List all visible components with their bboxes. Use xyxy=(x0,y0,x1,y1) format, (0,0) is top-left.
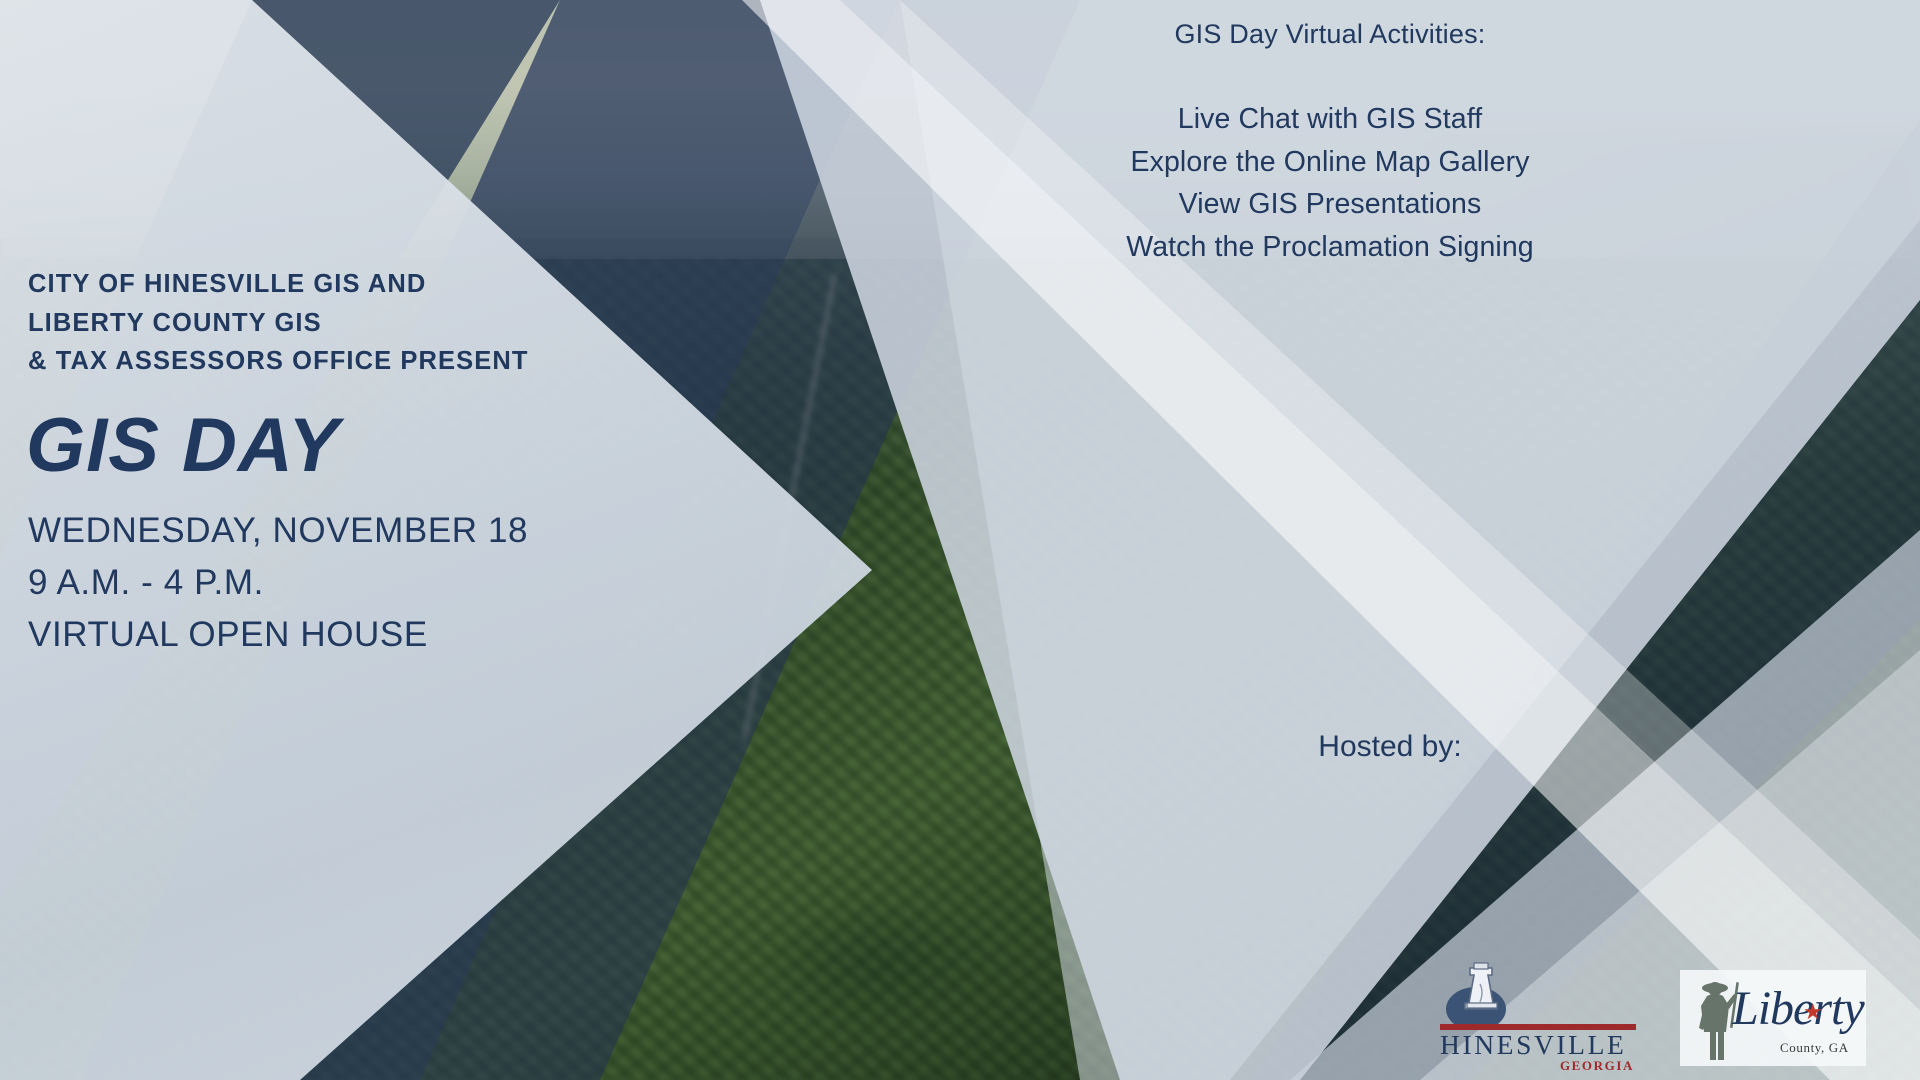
event-format: VIRTUAL OPEN HOUSE xyxy=(28,609,628,661)
liberty-county-logo: Liberty ★ County, GA xyxy=(1680,970,1866,1066)
activities-block: GIS Day Virtual Activities: Live Chat wi… xyxy=(900,14,1760,268)
hosted-by-label: Hosted by: xyxy=(1180,726,1600,768)
liberty-bell-icon xyxy=(1446,962,1520,1024)
activities-list: Live Chat with GIS Staff Explore the Onl… xyxy=(900,98,1760,268)
hinesville-logo: HINESVILLE GEORGIA xyxy=(1440,962,1636,1066)
event-details-block: CITY OF HINESVILLE GIS AND LIBERTY COUNT… xyxy=(28,265,628,661)
hinesville-state: GEORGIA xyxy=(1560,1058,1634,1074)
activities-heading: GIS Day Virtual Activities: xyxy=(900,14,1760,54)
gis-day-flyer: CITY OF HINESVILLE GIS AND LIBERTY COUNT… xyxy=(0,0,1920,1080)
red-star-icon: ★ xyxy=(1803,1002,1823,1022)
liberty-wordmark: Liberty xyxy=(1732,982,1864,1036)
event-date: WEDNESDAY, NOVEMBER 18 xyxy=(28,505,628,557)
event-time: 9 A.M. - 4 P.M. xyxy=(28,557,628,609)
liberty-county-sub: County, GA xyxy=(1780,1040,1849,1056)
activity-item: View GIS Presentations xyxy=(900,183,1760,226)
host-logos: HINESVILLE GEORGIA Liberty ★ County, GA xyxy=(1440,962,1866,1066)
activity-item: Watch the Proclamation Signing xyxy=(900,226,1760,269)
event-title: GIS DAY xyxy=(26,403,628,489)
activity-item: Explore the Online Map Gallery xyxy=(900,141,1760,184)
presenter-line-2: LIBERTY COUNTY GIS xyxy=(28,304,628,343)
presenter-line-3: & TAX ASSESSORS OFFICE PRESENT xyxy=(28,342,628,381)
hinesville-wordmark: HINESVILLE xyxy=(1440,1030,1636,1060)
activity-item: Live Chat with GIS Staff xyxy=(900,98,1760,141)
presenter-line-1: CITY OF HINESVILLE GIS AND xyxy=(28,265,628,304)
